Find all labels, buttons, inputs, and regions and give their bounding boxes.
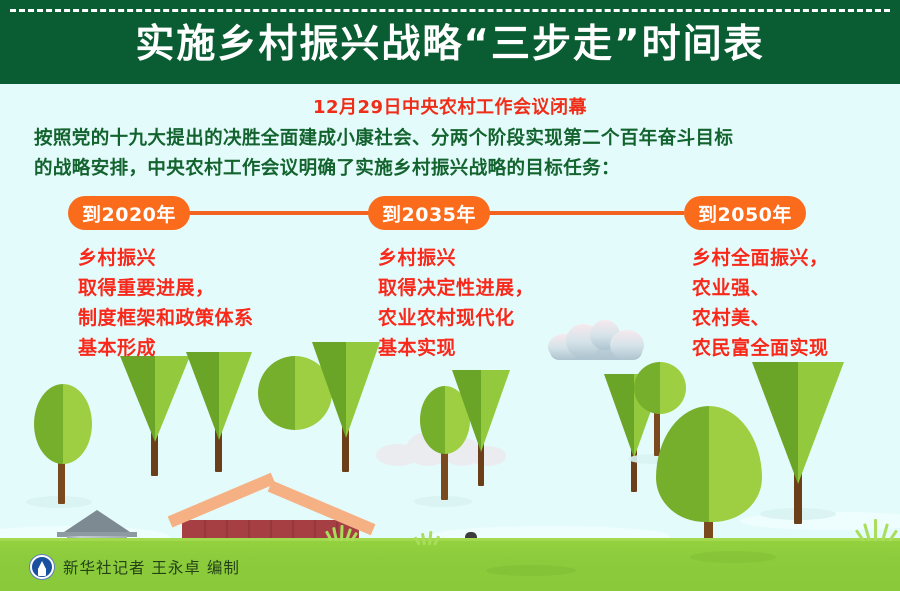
infographic-poster: 实施乡村振兴战略“三步走”时间表 [0,0,900,591]
barn-roof [172,480,369,528]
tree-foliage [656,406,762,522]
milestone-line: 农民富全面实现 [692,333,892,363]
grass-tuft [862,519,892,541]
header-banner: 实施乡村振兴战略“三步走”时间表 [0,0,900,84]
milestone-line: 乡村全面振兴， [692,243,892,273]
timeline-connector [484,211,684,215]
milestone-line: 基本形成 [78,333,358,363]
tree-foliage [120,356,190,442]
milestone-line: 取得重要进展， [78,273,358,303]
timeline-badge-2035[interactable]: 到2035年 [368,196,490,230]
milestone-line: 农村美、 [692,303,892,333]
grass-tuft [330,525,352,541]
tree-foliage [752,362,844,484]
tree-foliage [186,352,252,440]
milestone-line: 制度框架和政策体系 [78,303,358,333]
milestone-line: 乡村振兴 [78,243,358,273]
xinhua-emblem-icon [30,555,54,579]
tree-foliage [34,384,92,464]
timeline: 到2020年 到2035年 到2050年 [0,196,900,230]
farm-silo [62,510,132,541]
footer-credit: 新华社记者 王永卓 编制 [30,555,240,579]
header-dashed-divider [10,9,890,12]
tree-foliage [452,370,510,452]
milestone-text-2050: 乡村全面振兴， 农业强、 农村美、 农民富全面实现 [692,243,892,363]
milestone-line: 农业农村现代化 [378,303,668,333]
timeline-badge-2020[interactable]: 到2020年 [68,196,190,230]
grass-tuft [418,531,438,545]
milestone-text-2035: 乡村振兴 取得决定性进展， 农业农村现代化 基本实现 [378,243,668,363]
milestone-line: 农业强、 [692,273,892,303]
page-title: 实施乡村振兴战略“三步走”时间表 [0,20,900,70]
body-line-1: 按照党的十九大提出的决胜全面建成小康社会、分两个阶段实现第二个百年奋斗目标 [34,124,874,154]
milestone-line: 取得决定性进展， [378,273,668,303]
tree-ground-shadow [690,551,776,563]
milestone-line: 基本实现 [378,333,668,363]
credit-text: 新华社记者 王永卓 编制 [63,556,240,578]
milestone-line: 乡村振兴 [378,243,668,273]
tractor-ground-shadow [486,565,576,576]
milestone-text-2020: 乡村振兴 取得重要进展， 制度框架和政策体系 基本形成 [78,243,358,363]
subtitle: 12月29日中央农村工作会议闭幕 [0,93,900,119]
body-paragraph: 按照党的十九大提出的决胜全面建成小康社会、分两个阶段实现第二个百年奋斗目标 的战… [34,124,874,184]
timeline-connector [180,211,370,215]
body-line-2: 的战略安排，中央农村工作会议明确了实施乡村振兴战略的目标任务： [34,154,874,184]
timeline-badge-2050[interactable]: 到2050年 [684,196,806,230]
silo-roof [61,510,133,534]
